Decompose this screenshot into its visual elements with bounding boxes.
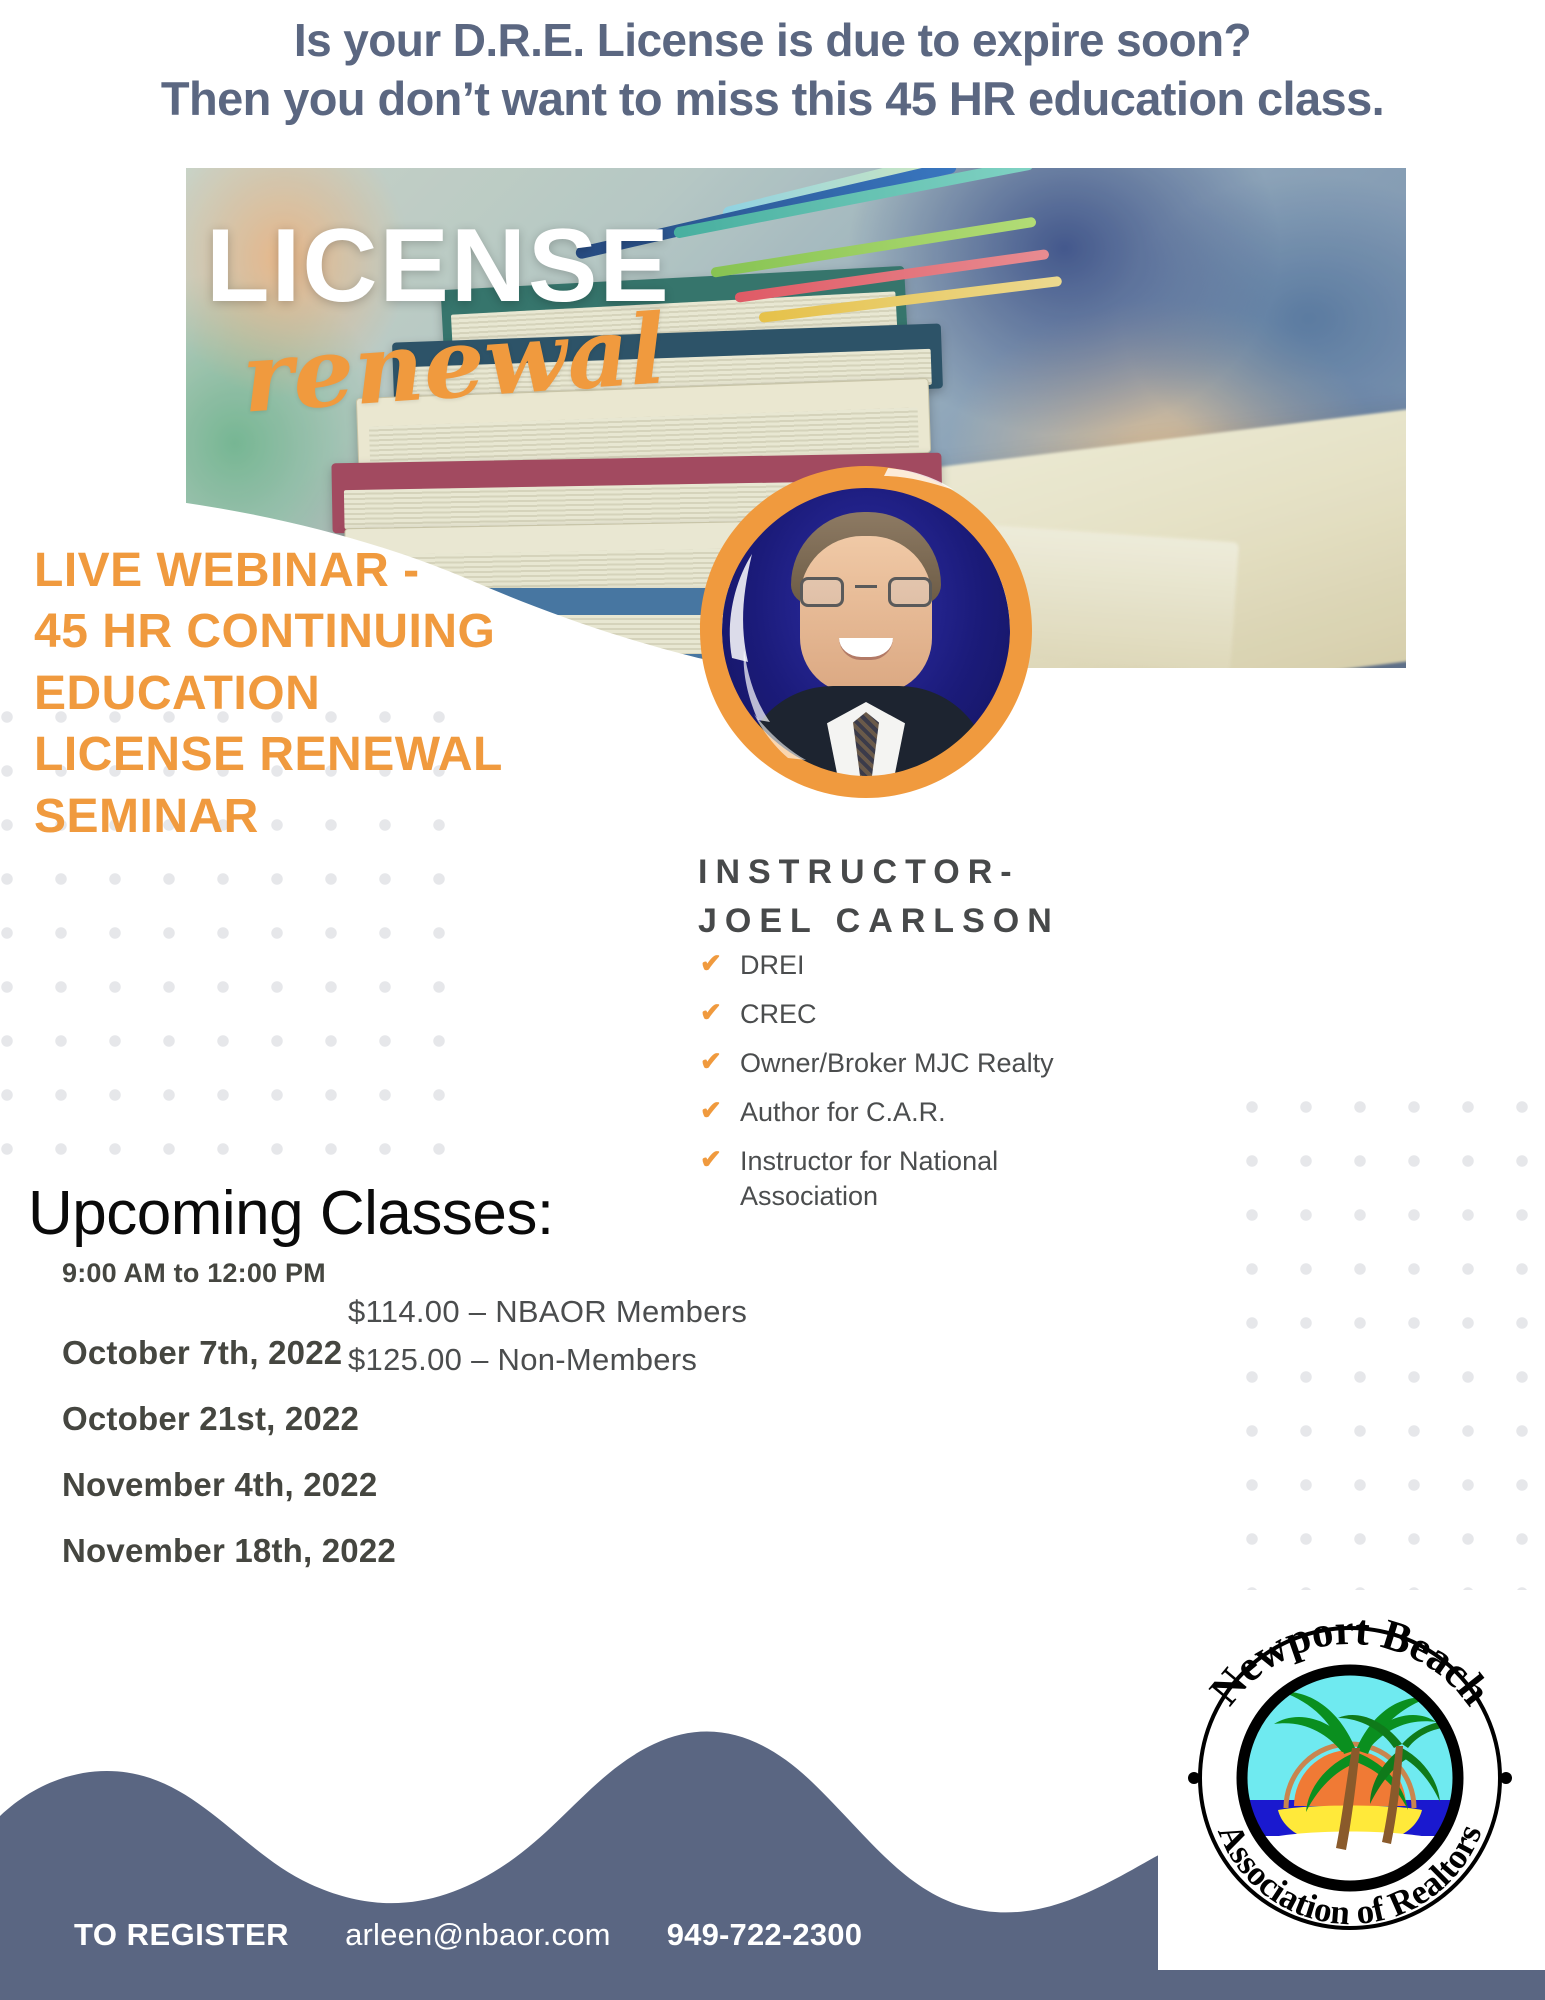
price-member: $114.00 – NBAOR Members bbox=[348, 1288, 1048, 1336]
flyer-poster: Is your D.R.E. License is due to expire … bbox=[0, 0, 1545, 2000]
check-icon: ✔ bbox=[700, 1095, 740, 1126]
instructor-heading-line-1: INSTRUCTOR- bbox=[698, 848, 1398, 897]
list-item: ✔ Author for C.A.R. bbox=[700, 1095, 1120, 1130]
credential-label: Owner/Broker MJC Realty bbox=[740, 1046, 1120, 1081]
list-item: ✔ DREI bbox=[700, 948, 1120, 983]
class-date: October 7th, 2022 bbox=[62, 1320, 396, 1386]
instructor-credentials-list: ✔ DREI ✔ CREC ✔ Owner/Broker MJC Realty … bbox=[700, 948, 1120, 1229]
instructor-heading-line-2: JOEL CARLSON bbox=[698, 897, 1398, 946]
pricing-block: $114.00 – NBAOR Members $125.00 – Non-Me… bbox=[348, 1288, 1048, 1384]
class-time: 9:00 AM to 12:00 PM bbox=[62, 1258, 326, 1289]
orange-brush-ring-icon bbox=[692, 458, 1040, 806]
to-register-label: TO REGISTER bbox=[74, 1917, 289, 1953]
nbaor-logo-icon: Newport Beach Association of Realtors bbox=[1170, 1598, 1530, 1958]
class-date: November 18th, 2022 bbox=[62, 1518, 396, 1584]
seminar-title: LIVE WEBINAR - 45 HR CONTINUING EDUCATIO… bbox=[34, 540, 694, 847]
headline: Is your D.R.E. License is due to expire … bbox=[0, 12, 1545, 128]
list-item: ✔ Instructor for National Association bbox=[700, 1144, 1120, 1214]
check-icon: ✔ bbox=[700, 948, 740, 979]
check-icon: ✔ bbox=[700, 1046, 740, 1077]
check-icon: ✔ bbox=[700, 1144, 740, 1175]
headline-line-2: Then you don’t want to miss this 45 HR e… bbox=[0, 70, 1545, 129]
list-item: ✔ CREC bbox=[700, 997, 1120, 1032]
credential-label: Instructor for National Association bbox=[740, 1144, 1120, 1214]
price-nonmember: $125.00 – Non-Members bbox=[348, 1336, 1048, 1384]
seminar-title-line: LIVE WEBINAR - bbox=[34, 540, 694, 601]
credential-label: Author for C.A.R. bbox=[740, 1095, 1120, 1130]
nbaor-logo: Newport Beach Association of Realtors bbox=[1158, 1590, 1545, 1970]
credential-label: DREI bbox=[740, 948, 1120, 983]
headline-line-1: Is your D.R.E. License is due to expire … bbox=[0, 12, 1545, 70]
registration-email[interactable]: arleen@nbaor.com bbox=[345, 1917, 611, 1953]
instructor-portrait bbox=[692, 458, 1040, 806]
check-icon: ✔ bbox=[700, 997, 740, 1028]
seminar-title-line: 45 HR CONTINUING bbox=[34, 601, 694, 662]
instructor-heading: INSTRUCTOR- JOEL CARLSON bbox=[698, 848, 1398, 947]
class-date: November 4th, 2022 bbox=[62, 1452, 396, 1518]
hero-script-renewal: renewal bbox=[239, 301, 669, 426]
seminar-title-line: LICENSE RENEWAL bbox=[34, 724, 694, 785]
class-dates-list: October 7th, 2022 October 21st, 2022 Nov… bbox=[62, 1320, 396, 1584]
upcoming-classes-title: Upcoming Classes: bbox=[28, 1178, 554, 1249]
class-date: October 21st, 2022 bbox=[62, 1386, 396, 1452]
list-item: ✔ Owner/Broker MJC Realty bbox=[700, 1046, 1120, 1081]
seminar-title-line: SEMINAR bbox=[34, 786, 694, 847]
registration-phone[interactable]: 949-722-2300 bbox=[667, 1917, 862, 1953]
seminar-title-line: EDUCATION bbox=[34, 663, 694, 724]
credential-label: CREC bbox=[740, 997, 1120, 1032]
